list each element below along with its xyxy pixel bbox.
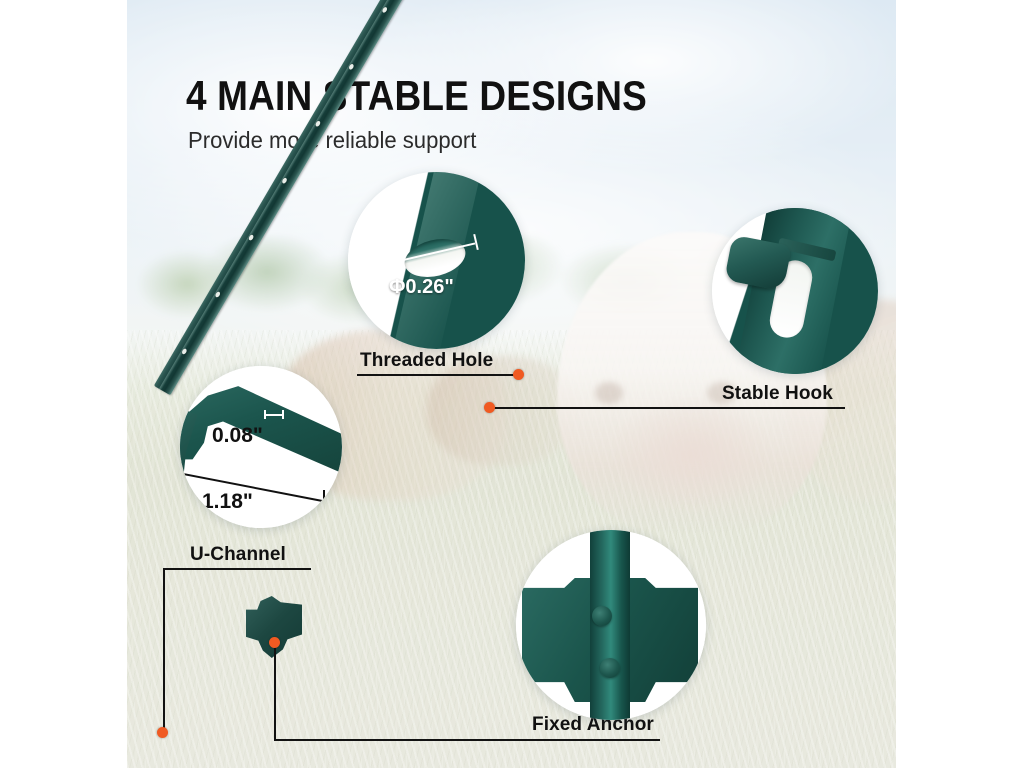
callout-bubble-stable-hook — [712, 208, 878, 374]
leader-line-u-channel — [163, 568, 311, 570]
leader-line-fixed-anchor — [274, 739, 660, 741]
anchor-post-stem — [590, 530, 630, 720]
leader-line-stable-hook — [490, 407, 845, 409]
callout-label-stable-hook: Stable Hook — [722, 383, 833, 405]
threaded-hole-dimension-text: Φ0.26" — [389, 276, 454, 299]
anchor-rivet-bottom — [600, 658, 620, 678]
fixed-anchor-icon — [516, 530, 706, 720]
infographic-canvas: 4 MAIN STABLE DESIGNS Provide more relia… — [0, 0, 1024, 768]
u-channel-icon: 0.08" 1.18" — [180, 366, 342, 528]
product-post-layer — [0, 0, 1024, 768]
leader-line-u-channel-vertical — [163, 568, 165, 734]
thickness-cap-right — [282, 410, 284, 419]
anchor-rivet-top — [592, 606, 612, 626]
callout-label-threaded-hole: Threaded Hole — [360, 350, 493, 372]
u-channel-width-text: 1.18" — [202, 490, 253, 514]
stable-hook-icon — [712, 208, 878, 374]
callout-bubble-fixed-anchor — [516, 530, 706, 720]
callout-bubble-threaded-hole: Φ0.26" — [348, 172, 525, 349]
thickness-dimension-line — [264, 414, 284, 416]
width-cap-right — [323, 490, 325, 507]
u-channel-thickness-text: 0.08" — [212, 424, 263, 448]
thickness-cap-left — [264, 410, 266, 419]
leader-line-threaded-hole — [357, 374, 523, 376]
marker-dot-fixed-anchor — [269, 637, 280, 648]
callout-bubble-u-channel: 0.08" 1.18" — [180, 366, 342, 528]
threaded-hole-icon: Φ0.26" — [348, 172, 525, 349]
marker-dot-stable-hook — [484, 402, 495, 413]
callout-label-u-channel: U-Channel — [190, 544, 286, 566]
marker-dot-u-channel — [157, 727, 168, 738]
marker-dot-threaded-hole — [513, 369, 524, 380]
leader-line-fixed-anchor-vertical — [274, 646, 276, 740]
